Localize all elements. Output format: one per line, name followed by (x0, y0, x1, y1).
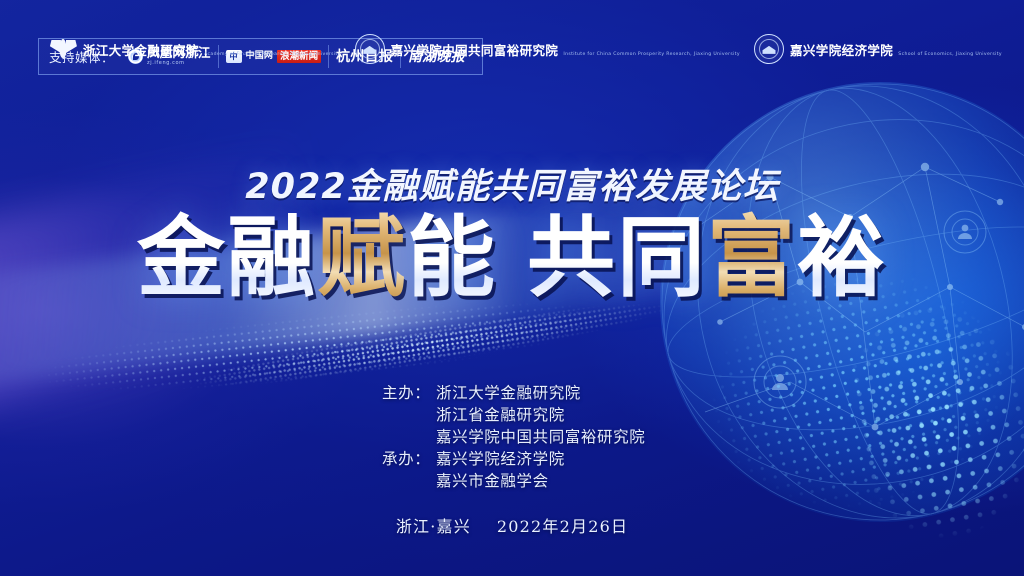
organization-name-en: Institute for China Common Prosperity Re… (563, 52, 740, 57)
credits-host-3: 嘉兴学院中国共同富裕研究院 (436, 426, 645, 448)
headline-segment-5-gold: 富 (707, 206, 797, 309)
credits-host-row-2: 浙江省金融研究院 (382, 404, 645, 426)
organization-logo-zju-afr[interactable]: 浙江大学金融研究院 Academy of Financial Research,… (50, 36, 341, 62)
credits-spacer (382, 426, 436, 448)
organization-name-cn: 嘉兴学院中国共同富裕研究院 (391, 43, 559, 58)
organizer-logo-row: 浙江大学金融研究院 Academy of Financial Research,… (50, 34, 1002, 64)
organization-name-cn: 嘉兴学院经济学院 (790, 43, 893, 58)
credits-host-2: 浙江省金融研究院 (436, 404, 565, 426)
credits-cohost-row-2: 嘉兴市金融学会 (382, 470, 645, 492)
footer-date: 2022年2月26日 (497, 517, 628, 536)
top-bar: 支持媒体： 凤凰网浙江 zj.ifeng.com 中国网 浪潮新闻 杭州日报 南… (0, 0, 1024, 92)
forum-subtitle: 2022金融赋能共同富裕发展论坛 (0, 158, 1024, 209)
credits-cohost-2: 嘉兴市金融学会 (436, 470, 549, 492)
credits-cohost-row-1: 承办： 嘉兴学院经济学院 (382, 448, 645, 470)
credits-block: 主办： 浙江大学金融研究院 浙江省金融研究院 嘉兴学院中国共同富裕研究院 承办：… (382, 382, 645, 492)
headline-segment-3: 能 (407, 206, 497, 309)
poster-canvas: 支持媒体： 凤凰网浙江 zj.ifeng.com 中国网 浪潮新闻 杭州日报 南… (0, 0, 1024, 576)
organization-text: 嘉兴学院中国共同富裕研究院 Institute for China Common… (391, 40, 740, 59)
credits-host-1: 浙江大学金融研究院 (436, 382, 581, 404)
headline-segment-2-gold: 赋 (317, 206, 407, 309)
credits-cohost-1: 嘉兴学院经济学院 (436, 448, 565, 470)
organization-logo-jxu-ccpr[interactable]: 嘉兴学院中国共同富裕研究院 Institute for China Common… (355, 34, 740, 64)
organization-logo-jxu-econ[interactable]: 嘉兴学院经济学院 School of Economics, Jiaxing Un… (754, 34, 1002, 64)
jxu-seal-icon (355, 34, 385, 64)
credits-spacer (382, 404, 436, 426)
organization-text: 嘉兴学院经济学院 School of Economics, Jiaxing Un… (790, 40, 1002, 59)
footer-location: 浙江·嘉兴 (396, 517, 471, 536)
credits-spacer (382, 470, 436, 492)
zju-eagle-icon (50, 36, 77, 62)
headline-segment-6: 裕 (797, 206, 887, 309)
organization-name-cn: 浙江大学金融研究院 (83, 43, 199, 58)
organization-name-en: School of Economics, Jiaxing University (898, 52, 1002, 57)
credits-host-row-3: 嘉兴学院中国共同富裕研究院 (382, 426, 645, 448)
headline-segment-1: 金融 (137, 206, 317, 309)
footer-line: 浙江·嘉兴2022年2月26日 (0, 513, 1024, 537)
organization-name-en: Academy of Financial Research, Zhejiang … (204, 52, 340, 57)
credits-cohost-label: 承办： (382, 448, 436, 470)
credits-host-row-1: 主办： 浙江大学金融研究院 (382, 382, 645, 404)
credits-host-label: 主办： (382, 382, 436, 404)
poster-headline: 金融赋能共同富裕 (0, 214, 1024, 302)
headline-segment-4: 共同 (527, 206, 707, 309)
organization-text: 浙江大学金融研究院 Academy of Financial Research,… (83, 40, 341, 59)
jxu-econ-seal-icon (754, 34, 784, 64)
